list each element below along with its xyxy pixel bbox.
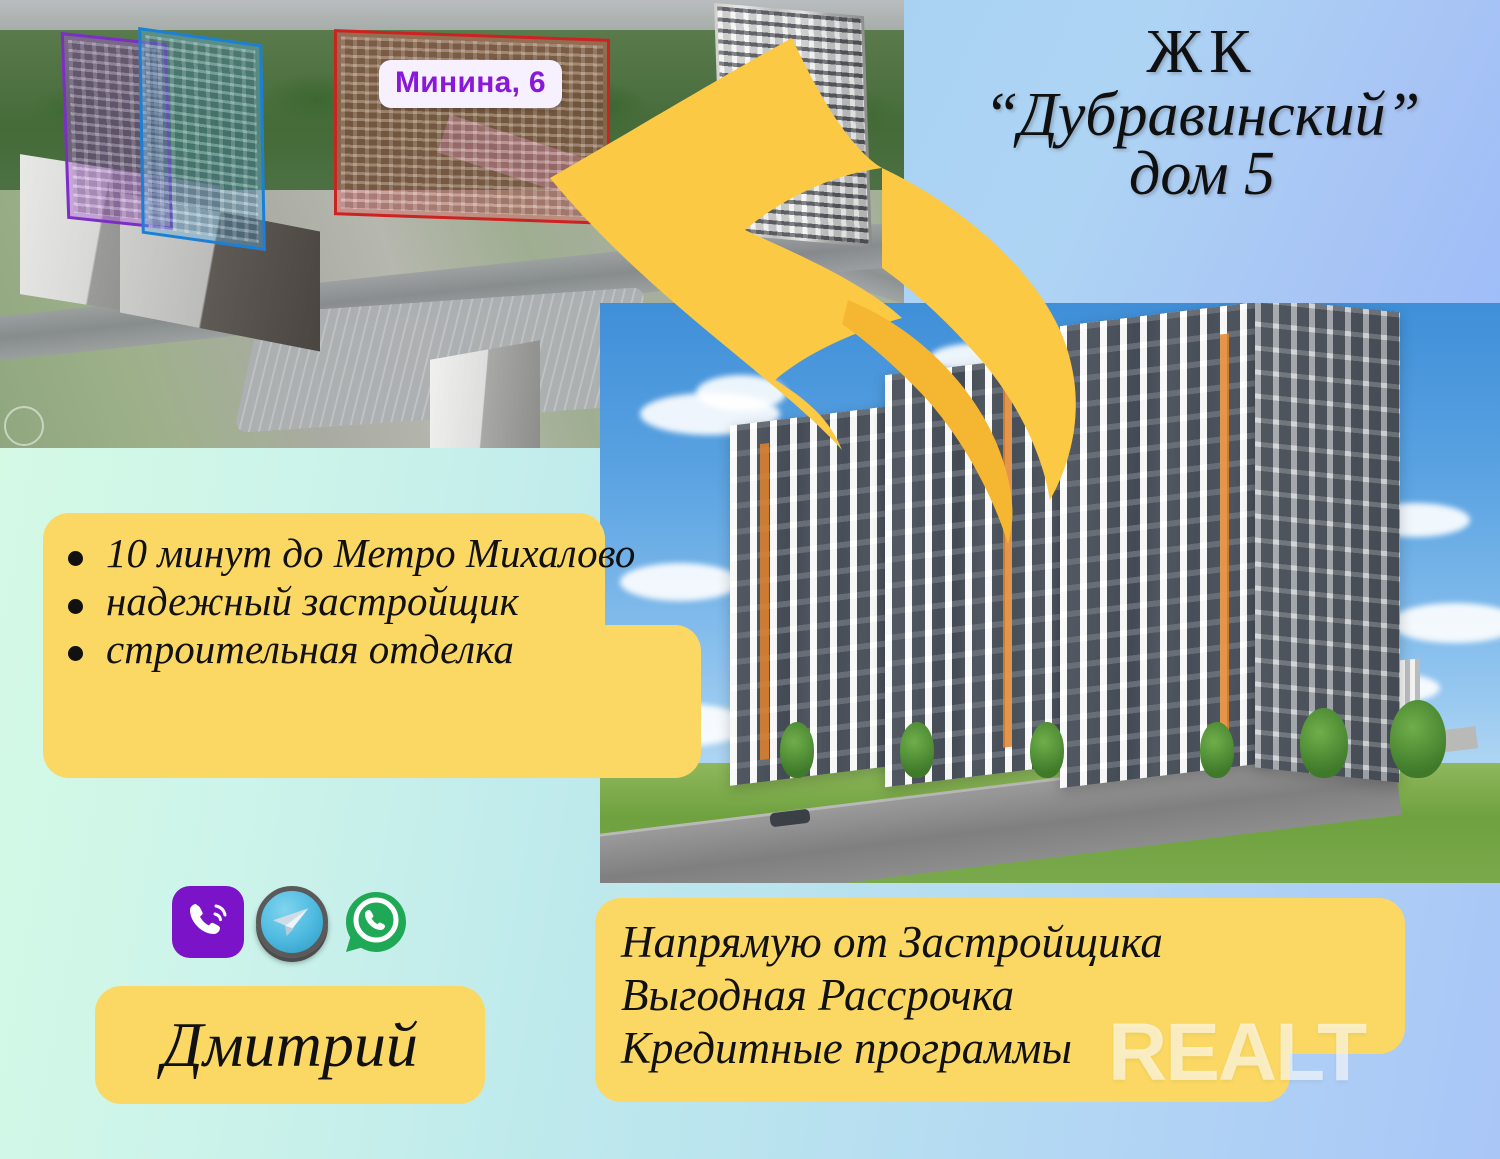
title-line-1: ЖК [904,22,1500,83]
tower-1-accent-stripe [760,443,769,761]
feature-item-3: строительная отделка [106,627,714,673]
tree [1030,722,1064,778]
cloud [696,375,786,411]
features-list: 10 минут до Метро Михалово надежный заст… [54,531,714,675]
title-line-2: “Дубравинский” [904,85,1500,146]
tree [1300,708,1348,778]
address-badge: Минина, 6 [379,60,562,108]
aerial-target-tower [714,3,872,247]
rotate-hint-icon [4,406,44,446]
title-line-3: дом 5 [904,144,1500,205]
tower-3-facade [1060,303,1275,788]
whatsapp-icon[interactable] [340,886,412,958]
offer-line-1: Напрямую от Застройщика [621,916,1421,969]
feature-item-2: надежный застройщик [106,579,714,625]
blue-building-floors [145,35,258,243]
viber-icon[interactable] [172,886,244,958]
advertisement-poster: Минина, 6 ЖК “Дубравинский” дом 5 [0,0,1500,1159]
tower-1-facade [730,404,905,785]
tower-3-accent-stripe [1220,333,1229,741]
feature-item-1: 10 минут до Метро Михалово [106,531,714,577]
aerial-white-tower [430,340,540,448]
tree [1390,700,1446,778]
main-building-photo [600,303,1500,883]
tree [900,722,934,778]
cloud [1390,603,1500,643]
contact-name: Дмитрий [95,986,485,1104]
page-title: ЖК “Дубравинский” дом 5 [904,22,1500,204]
realt-watermark: REALT [1108,1006,1365,1100]
highlight-red-building [334,29,610,225]
residential-tower-3 [1060,303,1275,788]
highlight-blue-building [138,27,266,251]
tower-2-accent-stripe [1003,384,1012,748]
tree [780,722,814,778]
social-contact-icons[interactable] [172,886,412,958]
telegram-icon[interactable] [256,886,328,958]
aerial-target-tower-windows [717,6,869,243]
residential-tower-1 [730,404,905,785]
tree [1200,722,1234,778]
